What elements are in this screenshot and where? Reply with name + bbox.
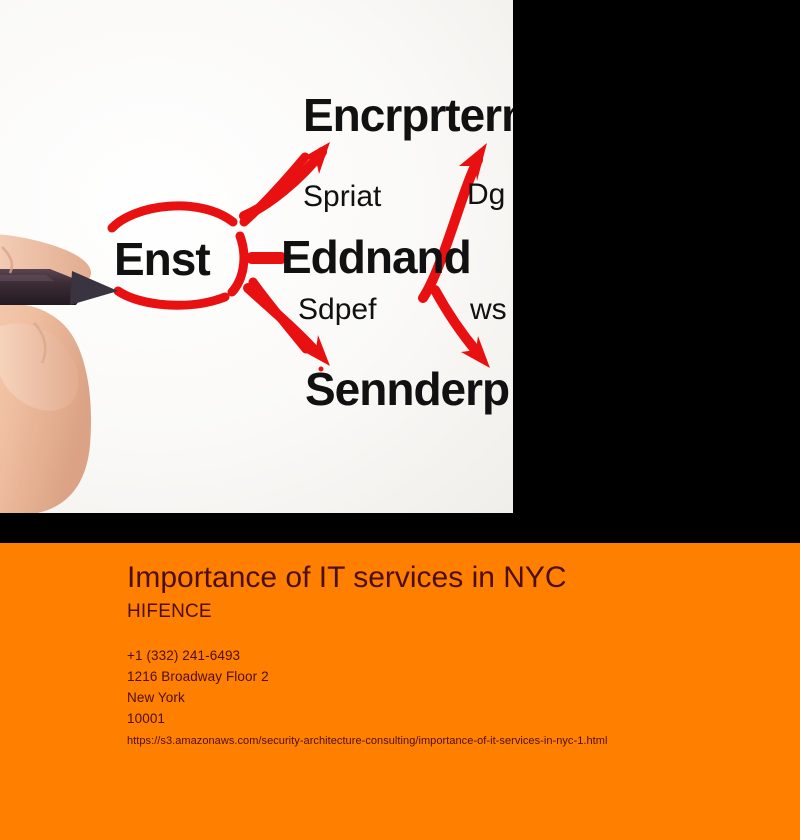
letterbox-right (513, 0, 800, 543)
contact-phone: +1 (332) 241-6493 (127, 646, 800, 667)
info-panel: Importance of IT services in NYC HIFENCE… (0, 543, 800, 840)
letterbox-bottom (0, 513, 513, 543)
hand-holding-marker-icon (0, 205, 140, 513)
brand-name: HIFENCE (127, 601, 800, 623)
media-panel: Encrprterni Enst Eddnand Sennderp Spriat… (0, 0, 800, 543)
diagram-word-center-right: Eddnand (281, 234, 471, 280)
diagram-word-spriat: Spriat (303, 182, 381, 212)
contact-block: +1 (332) 241-6493 1216 Broadway Floor 2 … (127, 646, 800, 748)
page-title: Importance of IT services in NYC (127, 561, 800, 596)
diagram-word-dg: Dg (467, 180, 505, 210)
diagram-word-ws: ws (470, 295, 507, 325)
diagram-word-top: Encrprterni (303, 92, 513, 138)
contact-city: New York (127, 688, 800, 709)
whiteboard-image: Encrprterni Enst Eddnand Sennderp Spriat… (0, 0, 513, 513)
source-url[interactable]: https://s3.amazonaws.com/security-archit… (127, 735, 800, 748)
contact-postal-code: 10001 (127, 709, 800, 730)
contact-street: 1216 Broadway Floor 2 (127, 667, 800, 688)
diagram-word-sdpef: Sdpef (298, 295, 376, 325)
diagram-word-bottom: Sennderp (305, 366, 509, 412)
